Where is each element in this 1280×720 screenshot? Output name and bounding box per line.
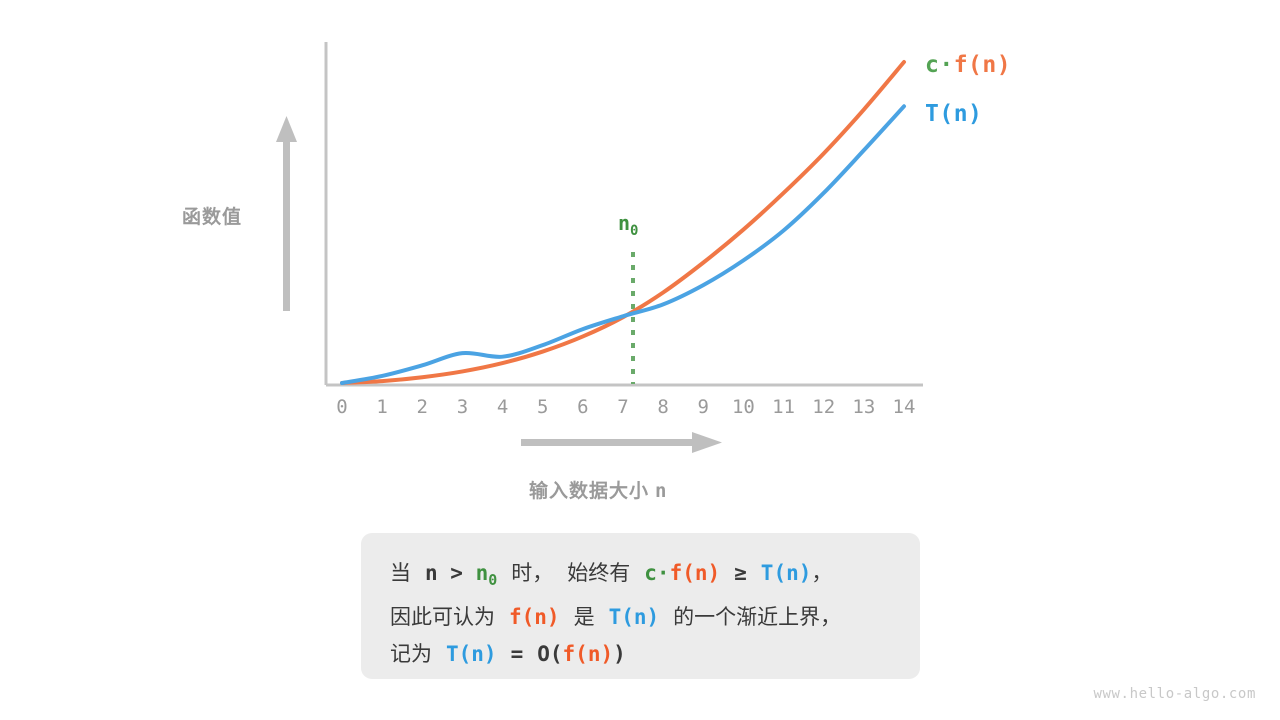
- conclusion-line-2: 因此可认为f(n)是T(n)的一个渐近上界，: [390, 599, 841, 636]
- conclusion-text: 当n > n0时，始终有c·f(n)≥T(n)， 因此可认为f(n)是T(n)的…: [390, 555, 841, 673]
- x-tick-9: 9: [683, 396, 723, 418]
- c1-f: f(n): [670, 561, 721, 585]
- conclusion-line-1: 当n > n0时，始终有c·f(n)≥T(n)，: [390, 555, 841, 599]
- c2-c: 是: [574, 605, 595, 629]
- c2-e: 的一个渐近上界，: [673, 605, 841, 629]
- legend-tn-text: T(n): [925, 101, 982, 127]
- watermark: www.hello-algo.com: [1093, 686, 1256, 702]
- conclusion-line-3: 记为T(n)=O(f(n)): [390, 636, 841, 673]
- x-axis-title-text: 输入数据大小: [529, 480, 649, 502]
- x-tick-12: 12: [804, 396, 844, 418]
- c1-c: 时，: [511, 561, 553, 585]
- x-tick-10: 10: [723, 396, 763, 418]
- curve-t-n: [342, 106, 904, 383]
- x-direction-arrow-icon: [521, 432, 722, 453]
- c3-c: =: [511, 642, 524, 666]
- x-tick-1: 1: [362, 396, 402, 418]
- n0-marker-label: n0: [618, 211, 638, 239]
- x-tick-2: 2: [402, 396, 442, 418]
- c1-d: 始终有: [567, 561, 630, 585]
- c3-d: O(: [537, 642, 562, 666]
- x-tick-7: 7: [603, 396, 643, 418]
- c1-h: T(n): [761, 561, 812, 585]
- c3-a: 记为: [390, 642, 432, 666]
- y-direction-arrow-icon: [276, 116, 297, 311]
- diagram-canvas: 01234567891011121314 函数值 输入数据大小n c·f(n) …: [0, 0, 1280, 720]
- legend-cf-suffix: f(n): [954, 52, 1011, 78]
- c3-e: f(n): [563, 642, 614, 666]
- c2-a: 因此可认为: [390, 605, 495, 629]
- x-tick-5: 5: [523, 396, 563, 418]
- x-tick-14: 14: [884, 396, 924, 418]
- n0-letter: n: [618, 211, 630, 235]
- c1-n0-sub: 0: [488, 571, 497, 589]
- c1-i: ，: [811, 561, 832, 585]
- x-tick-13: 13: [844, 396, 884, 418]
- c1-g: ≥: [734, 561, 747, 585]
- legend-cf-prefix: c·: [925, 52, 954, 78]
- c2-b: f(n): [509, 605, 560, 629]
- c1-b: n >: [425, 561, 476, 585]
- x-axis-title: 输入数据大小n: [529, 476, 667, 503]
- x-tick-3: 3: [442, 396, 482, 418]
- c1-a: 当: [390, 561, 411, 585]
- conclusion-box: 当n > n0时，始终有c·f(n)≥T(n)， 因此可认为f(n)是T(n)的…: [361, 533, 920, 679]
- legend-item-t-n: T(n): [925, 101, 982, 127]
- x-tick-4: 4: [483, 396, 523, 418]
- x-tick-11: 11: [764, 396, 804, 418]
- c1-e: c·: [644, 561, 669, 585]
- x-axis-title-variable: n: [649, 480, 667, 502]
- c3-b: T(n): [446, 642, 497, 666]
- n0-subscript: 0: [630, 223, 638, 239]
- c3-f: ): [613, 642, 626, 666]
- y-axis-title: 函数值: [182, 202, 242, 229]
- x-tick-6: 6: [563, 396, 603, 418]
- legend-item-c-f-n: c·f(n): [925, 52, 1011, 78]
- x-tick-8: 8: [643, 396, 683, 418]
- c2-d: T(n): [609, 605, 660, 629]
- x-tick-0: 0: [322, 396, 362, 418]
- c1-n0: n: [476, 561, 489, 585]
